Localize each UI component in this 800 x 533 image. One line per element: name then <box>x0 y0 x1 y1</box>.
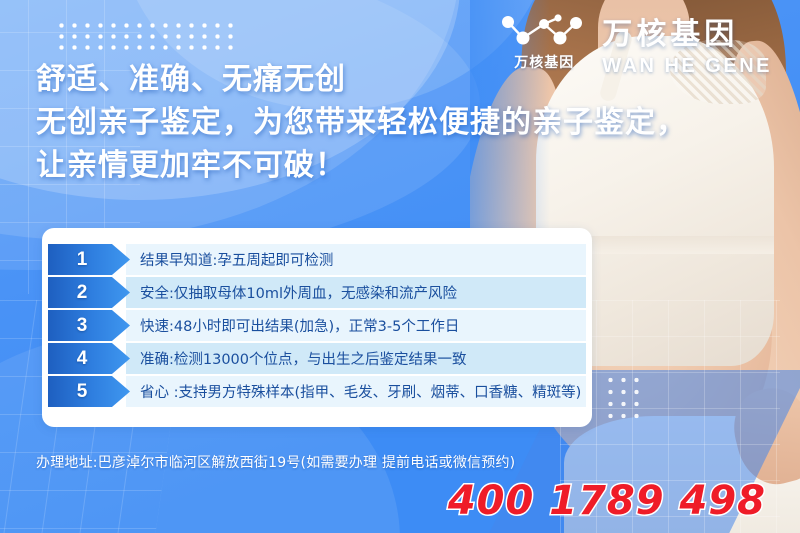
brand-logo: 万核基因 万核基因 WAN HE GENE <box>496 12 772 84</box>
feature-text: 结果早知道:孕五周起即可检测 <box>126 244 586 275</box>
feature-row: 3快速:48小时即可出结果(加急)，正常3-5个工作日 <box>48 310 586 341</box>
headline-line-3: 让亲情更加牢不可破！ <box>36 144 687 187</box>
feature-row: 2安全:仅抽取母体10ml外周血，无感染和流产风险 <box>48 277 586 308</box>
feature-number-badge: 2 <box>48 277 130 308</box>
feature-row: 4准确:检测13000个位点，与出生之后鉴定结果一致 <box>48 343 586 374</box>
feature-text: 省心 :支持男方特殊样本(指甲、毛发、牙刷、烟蒂、口香糖、精斑等) <box>126 376 586 407</box>
feature-text: 安全:仅抽取母体10ml外周血，无感染和流产风险 <box>126 277 586 308</box>
feature-number-badge: 4 <box>48 343 130 374</box>
feature-number-badge: 1 <box>48 244 130 275</box>
feature-text: 准确:检测13000个位点，与出生之后鉴定结果一致 <box>126 343 586 374</box>
logo-wordmark: 万核基因 WAN HE GENE <box>602 20 772 76</box>
dot-grid-top <box>55 20 237 52</box>
office-address: 办理地址:巴彦淖尔市临河区解放西街19号(如需要办理 提前电话或微信预约) <box>36 452 515 472</box>
logo-name-en: WAN HE GENE <box>602 56 772 76</box>
feature-number-badge: 3 <box>48 310 130 341</box>
promo-banner: 万核基因 万核基因 WAN HE GENE 舒适、准确、无痛无创 无创亲子鉴定，… <box>0 0 800 533</box>
logo-mark-label: 万核基因 <box>496 52 592 72</box>
feature-row: 5省心 :支持男方特殊样本(指甲、毛发、牙刷、烟蒂、口香糖、精斑等) <box>48 376 586 407</box>
molecule-node-icon: 万核基因 <box>496 12 592 84</box>
feature-text: 快速:48小时即可出结果(加急)，正常3-5个工作日 <box>126 310 586 341</box>
feature-panel: 1结果早知道:孕五周起即可检测2安全:仅抽取母体10ml外周血，无感染和流产风险… <box>42 228 592 427</box>
feature-number-badge: 5 <box>48 376 130 407</box>
logo-name-cn: 万核基因 <box>602 20 772 50</box>
headline-line-2: 无创亲子鉴定，为您带来轻松便捷的亲子鉴定， <box>36 101 687 144</box>
feature-row: 1结果早知道:孕五周起即可检测 <box>48 244 586 275</box>
hotline-phone-number[interactable]: 400 1789 498 <box>448 478 766 524</box>
dot-grid-bottom-right <box>604 374 646 424</box>
feature-list: 1结果早知道:孕五周起即可检测2安全:仅抽取母体10ml外周血，无感染和流产风险… <box>42 244 592 407</box>
